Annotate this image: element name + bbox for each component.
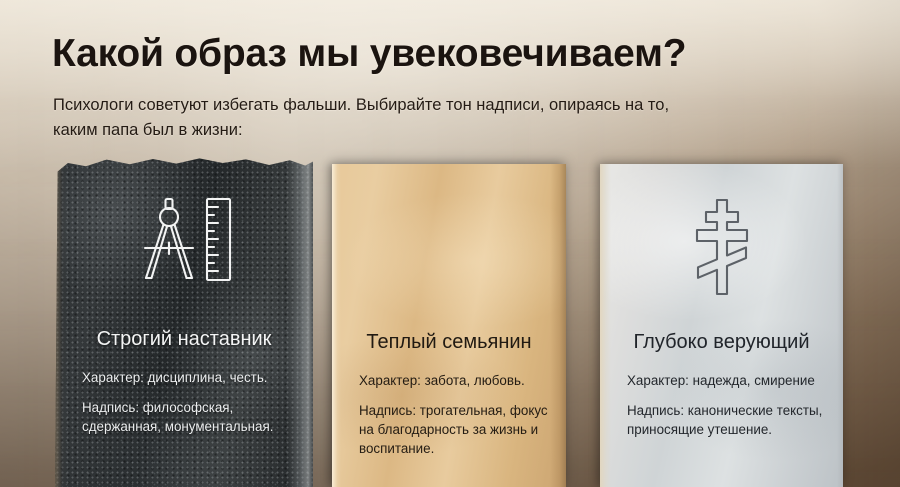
stone-card-warm-family-man[interactable]: Теплый семьянин Характер: забота, любовь…: [332, 164, 566, 487]
compass-ruler-icon: [69, 155, 299, 327]
stone-card-strict-mentor[interactable]: Строгий наставник Характер: дисциплина, …: [55, 155, 313, 487]
card-title: Строгий наставник: [97, 327, 272, 351]
slide-root: Какой образ мы увековечиваем? Психологи …: [0, 0, 900, 487]
orthodox-cross-icon: [614, 164, 829, 330]
stone-card-deeply-religious[interactable]: Глубоко верующий Характер: надежда, смир…: [600, 164, 843, 487]
stone-cards-row: Строгий наставник Характер: дисциплина, …: [0, 0, 900, 487]
card-line-epitaph: Надпись: философская, сдержанная, монуме…: [82, 398, 299, 436]
card-line-character: Характер: забота, любовь.: [359, 371, 552, 390]
card-title: Теплый семьянин: [366, 330, 531, 354]
card-body: Характер: дисциплина, честь. Надпись: фи…: [69, 368, 299, 436]
card-line-epitaph: Надпись: трогательная, фокус на благодар…: [359, 401, 552, 458]
card-line-character: Характер: дисциплина, честь.: [82, 368, 299, 387]
card-line-epitaph: Надпись: канонические тексты, приносящие…: [627, 401, 829, 439]
card-line-character: Характер: надежда, смирение: [627, 371, 829, 390]
tree-roots-portal-icon: [346, 164, 552, 330]
card-title: Глубоко верующий: [633, 330, 809, 354]
card-body: Характер: надежда, смирение Надпись: кан…: [614, 371, 829, 439]
card-body: Характер: забота, любовь. Надпись: трога…: [346, 371, 552, 458]
